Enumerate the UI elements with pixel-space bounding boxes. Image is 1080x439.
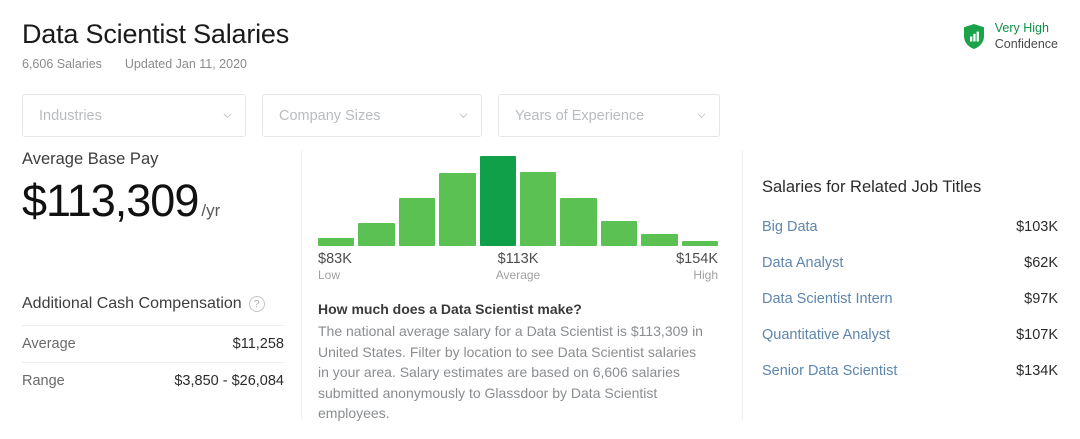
company-sizes-dropdown-label: Company Sizes bbox=[279, 108, 381, 124]
salary-distribution-block: $83K Low $113K Average $154K High How mu… bbox=[318, 150, 718, 424]
histogram-bar bbox=[399, 198, 435, 246]
years-of-experience-dropdown-label: Years of Experience bbox=[515, 108, 644, 124]
related-job-pay: $97K bbox=[1024, 291, 1058, 307]
related-job-row[interactable]: Quantitative Analyst$107K bbox=[762, 317, 1058, 353]
related-panel-title: Salaries for Related Job Titles bbox=[762, 178, 1058, 197]
histogram-bar bbox=[641, 234, 677, 246]
related-job-row[interactable]: Big Data$103K bbox=[762, 209, 1058, 245]
axis-tick-average: $113K Average bbox=[318, 251, 718, 283]
related-job-link[interactable]: Big Data bbox=[762, 219, 818, 235]
base-pay-amount: $113,309 bbox=[22, 175, 198, 227]
related-job-link[interactable]: Data Scientist Intern bbox=[762, 291, 893, 307]
histogram-bar bbox=[520, 172, 556, 246]
additional-cash-row: Average $11,258 bbox=[22, 325, 284, 362]
related-job-pay: $62K bbox=[1024, 255, 1058, 271]
histogram-bar bbox=[439, 173, 475, 246]
related-job-link[interactable]: Quantitative Analyst bbox=[762, 327, 890, 343]
salary-page: Data Scientist Salaries 6,606 Salaries U… bbox=[0, 0, 1080, 439]
column-divider-left bbox=[301, 150, 302, 420]
histogram-bar bbox=[480, 156, 516, 246]
chevron-down-icon bbox=[222, 110, 233, 121]
header-meta: 6,606 Salaries Updated Jan 11, 2020 bbox=[22, 57, 289, 71]
filter-bar: Industries Company Sizes Years of Experi… bbox=[22, 94, 720, 137]
industries-dropdown-label: Industries bbox=[39, 108, 102, 124]
chevron-down-icon bbox=[458, 110, 469, 121]
blurb-paragraph: The national average salary for a Data S… bbox=[318, 321, 704, 424]
related-job-pay: $103K bbox=[1016, 219, 1058, 235]
related-job-row[interactable]: Senior Data Scientist$134K bbox=[762, 353, 1058, 389]
additional-cash-row: Range $3,850 - $26,084 bbox=[22, 362, 284, 399]
average-base-pay-block: Average Base Pay $113,309 /yr bbox=[22, 150, 284, 237]
column-divider-right bbox=[742, 150, 743, 420]
industries-dropdown[interactable]: Industries bbox=[22, 94, 246, 137]
histogram-axis: $83K Low $113K Average $154K High bbox=[318, 251, 718, 285]
salaries-count: 6,606 Salaries bbox=[22, 57, 102, 71]
additional-cash-header: Additional Cash Compensation ? bbox=[22, 295, 284, 325]
chevron-down-icon bbox=[696, 110, 707, 121]
histogram-bar bbox=[560, 198, 596, 246]
axis-tick-high: $154K High bbox=[676, 251, 718, 283]
blurb-question: How much does a Data Scientist make? bbox=[318, 299, 704, 320]
shield-chart-icon bbox=[962, 23, 986, 50]
axis-tick-average-label: Average bbox=[318, 268, 718, 283]
axis-tick-high-label: High bbox=[676, 268, 718, 283]
confidence-badge: Very High Confidence bbox=[962, 20, 1058, 52]
additional-cash-row-label: Range bbox=[22, 373, 65, 389]
related-job-titles-panel: Salaries for Related Job Titles Big Data… bbox=[762, 178, 1058, 389]
related-job-link[interactable]: Data Analyst bbox=[762, 255, 843, 271]
base-pay-amount-row: $113,309 /yr bbox=[22, 175, 284, 237]
salary-histogram bbox=[318, 150, 718, 246]
question-mark-icon[interactable]: ? bbox=[249, 296, 265, 312]
related-job-pay: $107K bbox=[1016, 327, 1058, 343]
additional-cash-row-label: Average bbox=[22, 336, 76, 352]
additional-cash-title: Additional Cash Compensation bbox=[22, 295, 242, 313]
histogram-bar bbox=[318, 238, 354, 246]
confidence-level: Very High bbox=[995, 20, 1058, 36]
company-sizes-dropdown[interactable]: Company Sizes bbox=[262, 94, 482, 137]
page-title: Data Scientist Salaries bbox=[22, 18, 289, 50]
salary-blurb: How much does a Data Scientist make? The… bbox=[318, 299, 704, 424]
confidence-label: Confidence bbox=[995, 36, 1058, 52]
base-pay-period: /yr bbox=[201, 185, 220, 237]
histogram-bar bbox=[682, 241, 718, 246]
related-job-row[interactable]: Data Analyst$62K bbox=[762, 245, 1058, 281]
related-job-link[interactable]: Senior Data Scientist bbox=[762, 363, 897, 379]
header: Data Scientist Salaries 6,606 Salaries U… bbox=[22, 18, 289, 71]
years-of-experience-dropdown[interactable]: Years of Experience bbox=[498, 94, 720, 137]
axis-tick-high-value: $154K bbox=[676, 251, 718, 268]
related-job-pay: $134K bbox=[1016, 363, 1058, 379]
additional-cash-row-value: $11,258 bbox=[233, 336, 284, 352]
base-pay-label: Average Base Pay bbox=[22, 150, 284, 169]
additional-cash-row-value: $3,850 - $26,084 bbox=[174, 373, 284, 389]
confidence-text: Very High Confidence bbox=[995, 20, 1058, 52]
additional-cash-compensation-block: Additional Cash Compensation ? Average $… bbox=[22, 295, 284, 399]
histogram-bar bbox=[358, 223, 394, 246]
axis-tick-average-value: $113K bbox=[318, 251, 718, 268]
histogram-bar bbox=[601, 221, 637, 246]
related-job-list: Big Data$103KData Analyst$62KData Scient… bbox=[762, 209, 1058, 389]
updated-date: Updated Jan 11, 2020 bbox=[125, 57, 247, 71]
related-job-row[interactable]: Data Scientist Intern$97K bbox=[762, 281, 1058, 317]
